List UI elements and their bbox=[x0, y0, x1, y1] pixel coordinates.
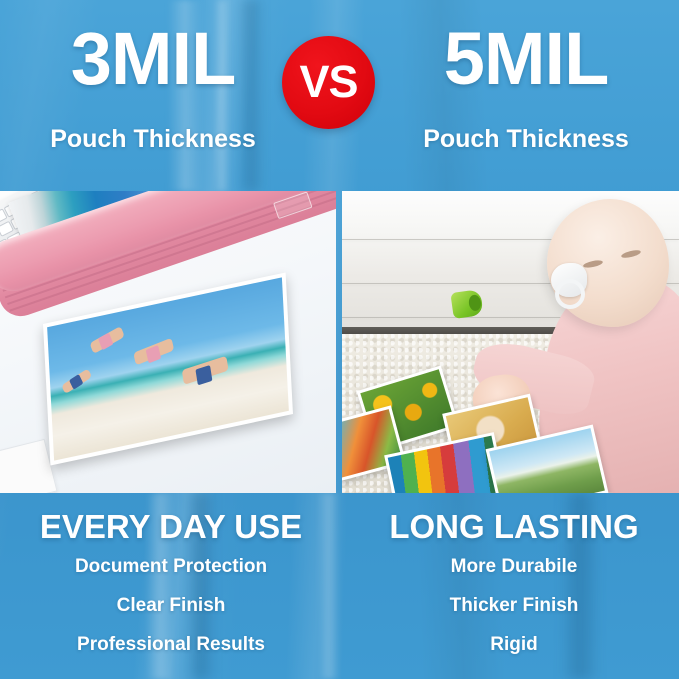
right-benefit-list: More Durabile Thicker Finish Rigid bbox=[349, 557, 679, 654]
footer-section: EVERY DAY USE Document Protection Clear … bbox=[0, 493, 679, 679]
footer-column-left: EVERY DAY USE Document Protection Clear … bbox=[6, 493, 336, 674]
room-scene bbox=[342, 191, 679, 493]
left-subhead: Pouch Thickness bbox=[8, 127, 298, 152]
right-footer-heading: LONG LASTING bbox=[349, 493, 679, 543]
right-subhead: Pouch Thickness bbox=[381, 127, 671, 152]
pacifier bbox=[551, 263, 587, 297]
left-benefit-list: Document Protection Clear Finish Profess… bbox=[6, 557, 336, 654]
photo-band bbox=[0, 191, 679, 493]
left-product-photo bbox=[0, 191, 336, 493]
left-headline: 3MIL bbox=[8, 22, 298, 96]
vs-badge-icon: VS bbox=[282, 36, 375, 129]
vs-badge-label: VS bbox=[299, 59, 357, 104]
product-comparison-infographic: 3MIL Pouch Thickness VS 5MIL Pouch Thick… bbox=[0, 0, 679, 679]
list-item: Clear Finish bbox=[6, 596, 336, 615]
header-section: 3MIL Pouch Thickness VS 5MIL Pouch Thick… bbox=[0, 0, 679, 191]
list-item: Document Protection bbox=[6, 557, 336, 576]
header-column-right: 5MIL Pouch Thickness bbox=[381, 0, 671, 191]
footer-column-right: LONG LASTING More Durabile Thicker Finis… bbox=[349, 493, 679, 674]
list-item: More Durabile bbox=[349, 557, 679, 576]
list-item: Thicker Finish bbox=[349, 596, 679, 615]
list-item: Professional Results bbox=[6, 635, 336, 654]
header-column-left: 3MIL Pouch Thickness bbox=[8, 0, 298, 191]
list-item: Rigid bbox=[349, 635, 679, 654]
right-headline: 5MIL bbox=[381, 22, 671, 96]
right-product-photo bbox=[342, 191, 679, 493]
left-footer-heading: EVERY DAY USE bbox=[6, 493, 336, 543]
